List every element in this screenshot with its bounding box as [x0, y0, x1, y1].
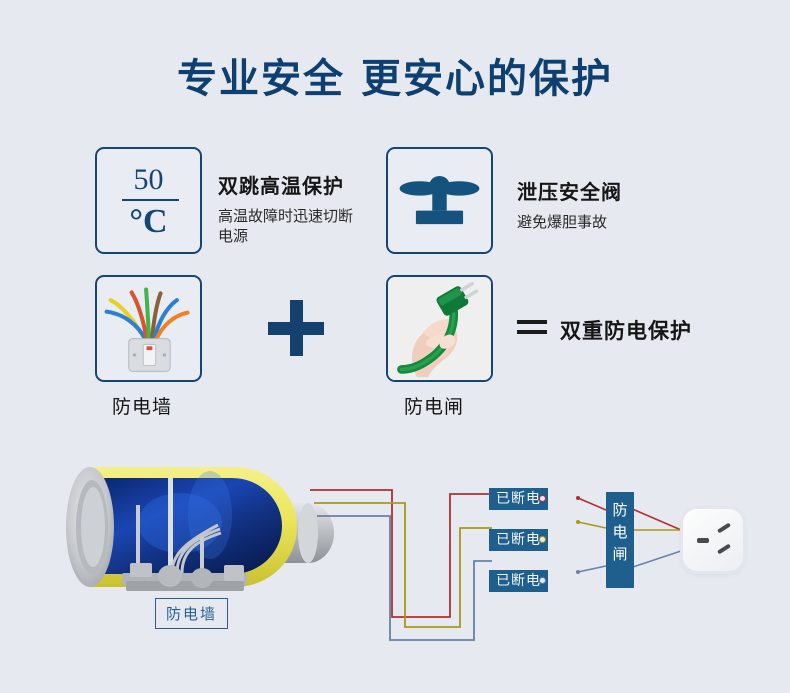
anti-electric-gate-bar: 防 电 闸 — [606, 492, 634, 588]
equation-result-label: 双重防电保护 — [560, 315, 692, 345]
feature-text-over-temp: 双跳高温保护 高温故障时迅速切断电源 — [218, 170, 358, 247]
temp-unit: °C — [97, 203, 200, 241]
feature-card-anti-electric-gate — [386, 275, 493, 382]
equals-icon — [517, 317, 547, 337]
feature-card-over-temp: 50 °C — [95, 147, 202, 254]
badge-terminal-dot — [539, 577, 546, 584]
thermometer-50c-icon: 50 °C — [97, 149, 200, 252]
feature-subtitle: 避免爆胆事故 — [517, 212, 657, 232]
badge-terminal-dot — [539, 495, 546, 502]
feature-text-relief-valve: 泄压安全阀 避免爆胆事故 — [517, 176, 657, 232]
gate-char: 闸 — [606, 544, 634, 566]
feature-subtitle: 高温故障时迅速切断电源 — [218, 206, 358, 247]
pressure-valve-icon — [388, 149, 491, 252]
wall-socket — [683, 509, 743, 571]
page-title: 专业安全 更安心的保护 — [0, 46, 790, 104]
gate-char: 电 — [606, 522, 634, 544]
feature-card-anti-electric-wall — [95, 275, 202, 382]
wires-switch-icon — [97, 277, 200, 380]
temp-value: 50 — [97, 163, 200, 197]
label-anti-electric-wall: 防电墙 — [112, 392, 172, 419]
label-anti-electric-gate: 防电闸 — [404, 392, 464, 419]
feature-card-relief-valve — [386, 147, 493, 254]
hand-green-plug-icon — [388, 277, 491, 380]
diagram-label-anti-electric-wall: 防电墙 — [155, 598, 228, 629]
temp-divider — [122, 199, 179, 201]
feature-title: 泄压安全阀 — [517, 176, 657, 205]
gate-char: 防 — [606, 500, 634, 522]
feature-title: 双跳高温保护 — [218, 170, 358, 199]
plus-icon — [268, 300, 324, 356]
promo-page: 专业安全 更安心的保护 50 °C 双跳高温保护 高温故障时迅速切断电源 泄压安… — [0, 0, 790, 693]
socket-slot-neutral — [717, 544, 731, 555]
gate-socket-wiring — [570, 480, 790, 600]
socket-slot-earth — [697, 538, 709, 543]
badge-terminal-dot — [539, 536, 546, 543]
socket-slot-live — [717, 523, 731, 534]
